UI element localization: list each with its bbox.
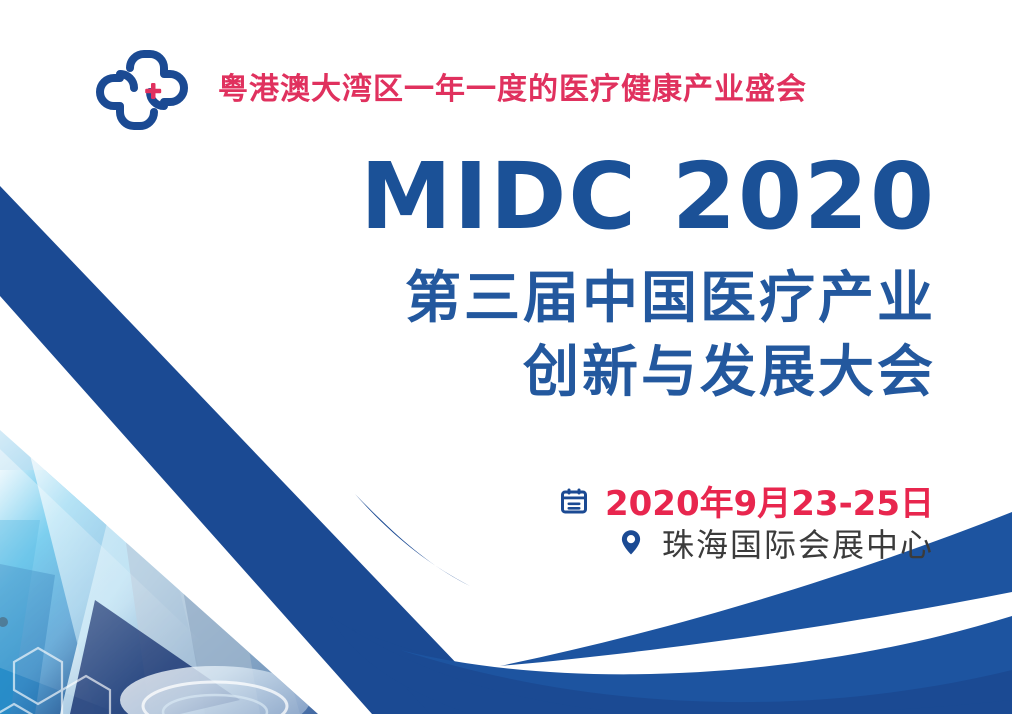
poster-header: 粤港澳大湾区一年一度的医疗健康产业盛会 xyxy=(90,34,807,146)
event-tagline: 粤港澳大湾区一年一度的医疗健康产业盛会 xyxy=(218,75,807,105)
subtitle-line-2: 创新与发展大会 xyxy=(246,336,936,410)
wave-spike xyxy=(355,494,470,586)
event-date-text: 2020年9月23-25日 xyxy=(605,487,934,521)
title-block: MIDC 2020 第三届中国医疗产业 创新与发展大会 xyxy=(246,150,936,411)
event-poster: 粤港澳大湾区一年一度的医疗健康产业盛会 MIDC 2020 第三届中国医疗产业 … xyxy=(0,0,1012,714)
subtitle-line-1: 第三届中国医疗产业 xyxy=(246,262,936,336)
calendar-icon xyxy=(559,486,589,521)
event-info-block: 2020年9月23-25日 珠海国际会展中心 xyxy=(559,486,934,562)
event-venue-row: 珠海国际会展中心 xyxy=(616,527,934,562)
event-date-row: 2020年9月23-25日 xyxy=(559,486,934,521)
page-title: MIDC 2020 xyxy=(246,150,936,244)
event-venue-text: 珠海国际会展中心 xyxy=(662,529,934,561)
map-pin-icon xyxy=(616,527,646,562)
midc-medical-cross-logo xyxy=(90,38,194,142)
